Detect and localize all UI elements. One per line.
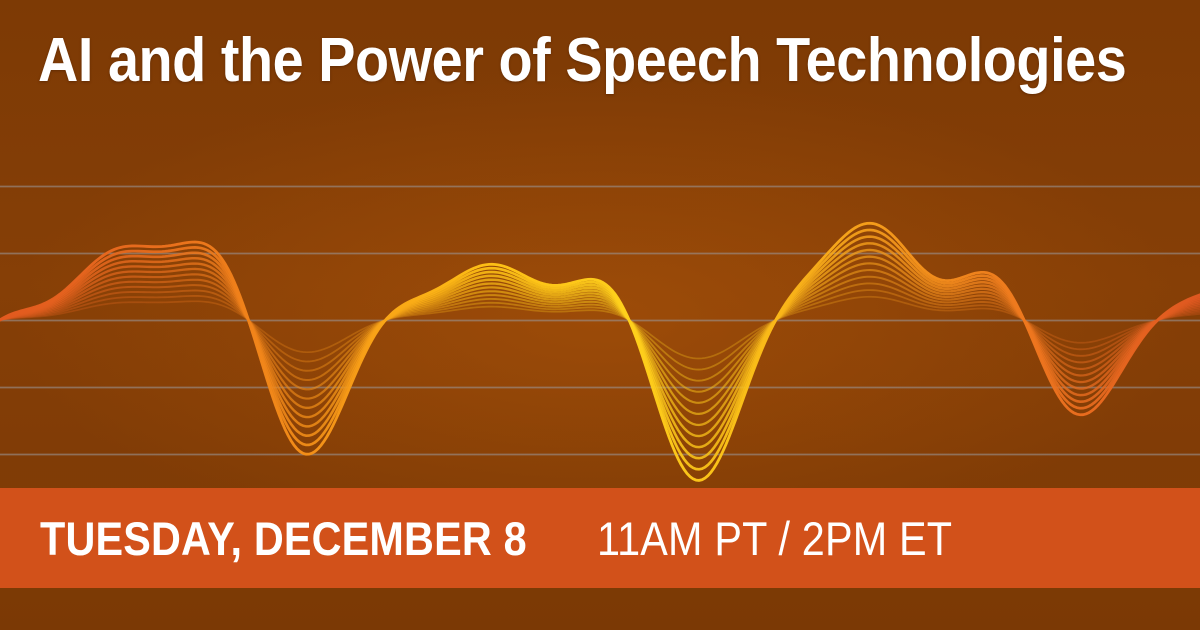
- waveform-svg: [0, 98, 1200, 498]
- date-banner: TUESDAY, DECEMBER 8 11AM PT / 2PM ET: [0, 488, 1200, 588]
- wave-line: [0, 223, 1200, 480]
- event-date-label: TUESDAY, DECEMBER 8: [40, 511, 527, 566]
- page-title: AI and the Power of Speech Technologies: [38, 28, 1064, 93]
- wave-line: [0, 243, 1200, 447]
- promo-banner: AI and the Power of Speech Technologies …: [0, 0, 1200, 630]
- wave-line: [0, 250, 1200, 436]
- wave-lines-group: [0, 223, 1200, 480]
- waveform-visualization: [0, 98, 1200, 498]
- title-block: AI and the Power of Speech Technologies: [38, 28, 1178, 93]
- event-time-label: 11AM PT / 2PM ET: [597, 511, 952, 566]
